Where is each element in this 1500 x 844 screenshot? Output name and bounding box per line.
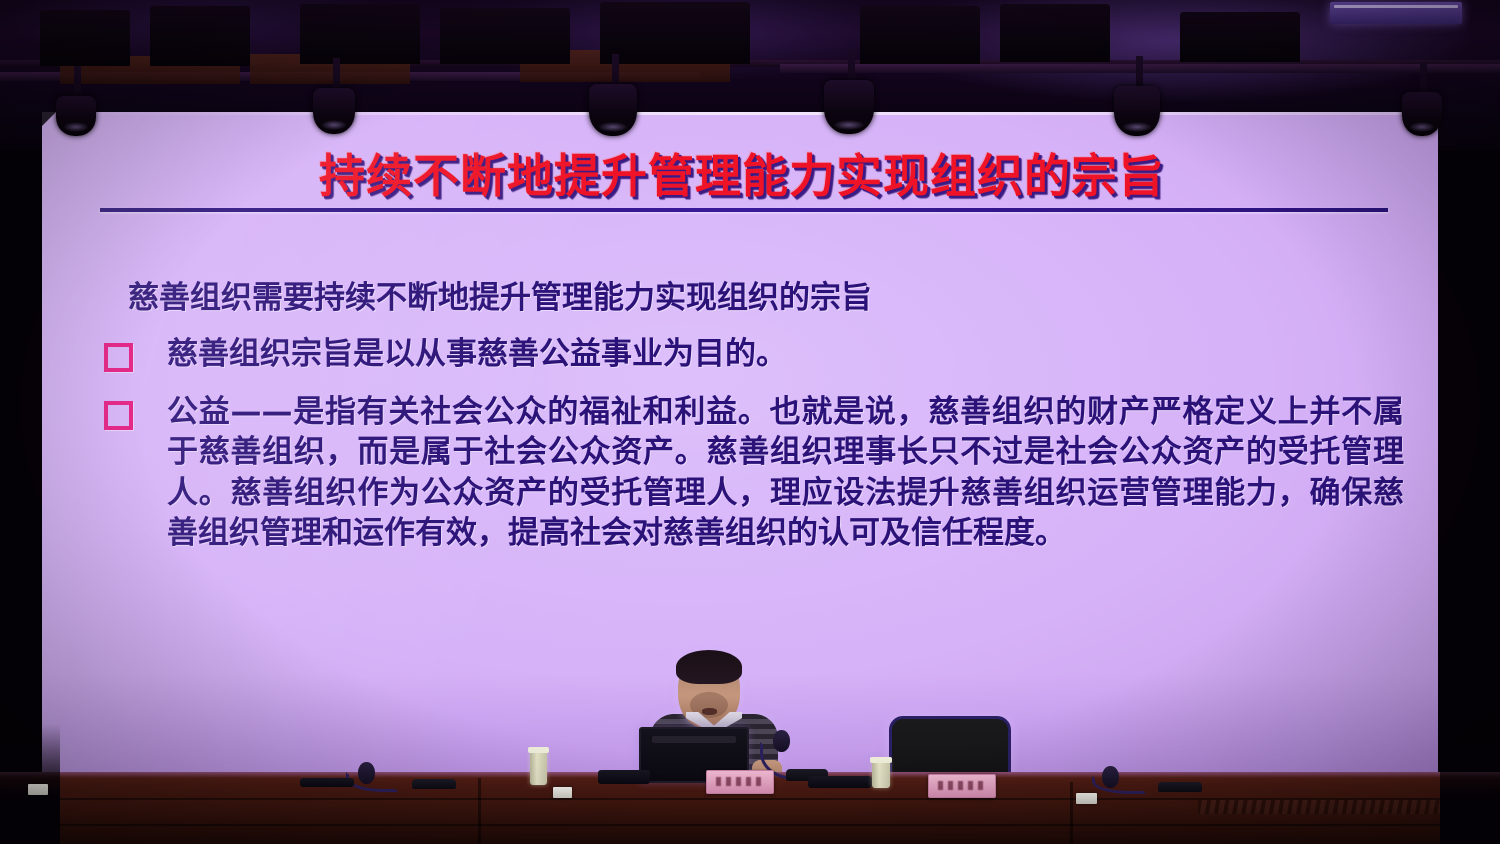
spotlight-fixture-1 — [56, 96, 96, 136]
microphone-head-1 — [773, 730, 790, 752]
table-device-3 — [598, 770, 650, 784]
spotlight-fixture-4 — [824, 80, 874, 134]
place-card-2 — [553, 787, 572, 798]
speaker-mouth — [702, 708, 717, 715]
balcony-seat-8 — [1180, 12, 1300, 62]
bullet-item-2-text: 公益——是指有关社会公众的福祉和利益。也就是说，慈善组织的财产严格定义上并不属于… — [167, 392, 1404, 553]
hollow-square-bullet-icon — [104, 343, 133, 372]
balcony-seat-2 — [150, 6, 250, 66]
balcony-seat-5 — [600, 2, 750, 64]
microphone-head-3 — [1102, 766, 1119, 788]
bullet-item-1: 慈善组织宗旨是以从事慈善公益事业为目的。 — [104, 334, 1384, 374]
nameplate-speaker-text — [716, 777, 764, 787]
slide-lead-line: 慈善组织需要持续不断地提升管理能力实现组织的宗旨 — [128, 272, 872, 317]
microphone-head-2 — [358, 762, 375, 784]
speaker-hair — [676, 650, 742, 684]
balcony-seat-6 — [860, 6, 980, 64]
microphone-base-2 — [412, 779, 456, 789]
water-cup-2 — [872, 760, 890, 788]
balcony-seat-1 — [40, 10, 130, 66]
place-card-1 — [28, 784, 48, 795]
table-device-2 — [808, 776, 872, 788]
spotlight-fixture-5 — [1114, 86, 1160, 136]
water-cup-1 — [530, 750, 547, 785]
balcony-seat-7 — [1000, 4, 1110, 62]
desk-seam-2 — [0, 824, 1500, 826]
balcony-seat-4 — [440, 8, 570, 64]
auditorium-scene: 持续不断地提升管理能力实现组织的宗旨 慈善组织需要持续不断地提升管理能力实现组织… — [0, 0, 1500, 844]
nameplate-empty-seat-text — [938, 781, 986, 791]
microphone-base-3 — [1158, 782, 1202, 792]
nameplate-speaker — [706, 770, 774, 794]
slide-title: 持续不断地提升管理能力实现组织的宗旨 — [102, 140, 1382, 206]
nameplate-empty-seat — [928, 774, 996, 798]
title-underline-rule — [100, 208, 1388, 212]
desk-divider-1 — [478, 778, 481, 844]
water-cup-lid-2 — [870, 757, 892, 763]
water-cup-lid-1 — [528, 747, 549, 753]
hollow-square-bullet-icon — [104, 401, 133, 430]
desk-divider-2 — [1070, 782, 1073, 844]
place-card-3 — [1076, 793, 1097, 804]
spotlight-fixture-3 — [589, 84, 637, 136]
balcony-seat-3 — [300, 4, 420, 64]
spotlight-fixture-6 — [1402, 92, 1442, 136]
bullet-item-1-text: 慈善组织宗旨是以从事慈善公益事业为目的。 — [167, 334, 1384, 374]
table-device-1 — [300, 778, 354, 787]
exit-sign — [1330, 2, 1462, 24]
bullet-item-2: 公益——是指有关社会公众的福祉和利益。也就是说，慈善组织的财产严格定义上并不属于… — [104, 392, 1404, 553]
spotlight-fixture-2 — [313, 88, 355, 134]
stage-right-shadow — [1440, 724, 1500, 844]
